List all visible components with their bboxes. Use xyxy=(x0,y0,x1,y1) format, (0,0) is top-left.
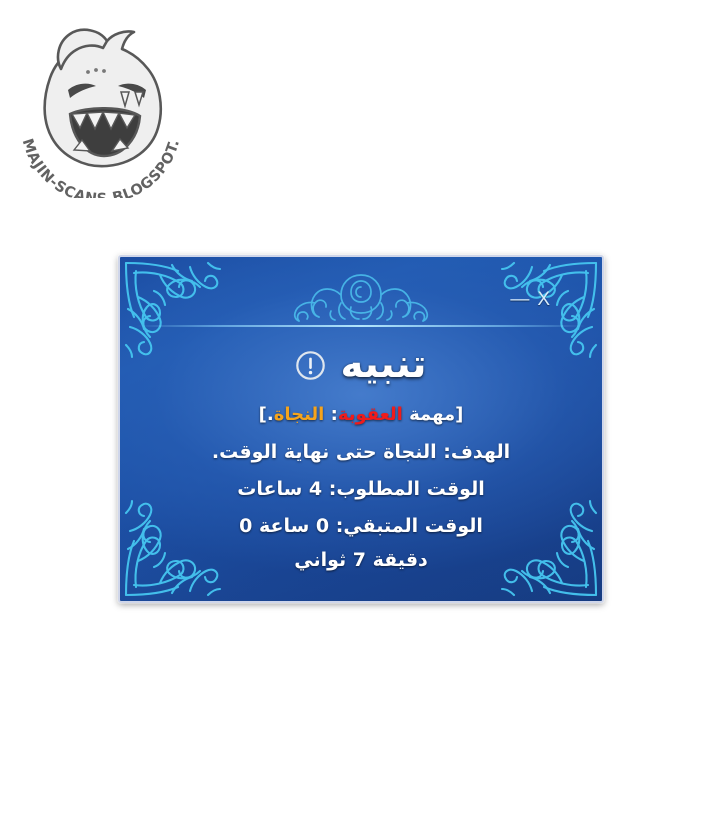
dialog-title-row: تنبيه xyxy=(120,345,602,386)
notification-dialog: — X تنبيه [مهمة العقوبة: النجاة.] الهدف:… xyxy=(118,255,604,603)
header-crown-ornament xyxy=(287,271,435,323)
mission-open-bracket: [ xyxy=(455,404,463,425)
page-title: تنبيه xyxy=(340,345,426,386)
mission-subject: العقوبة xyxy=(338,404,403,425)
close-button[interactable]: X xyxy=(537,290,550,309)
mission-close-bracket: ] xyxy=(259,404,267,425)
window-controls: — X xyxy=(510,290,550,309)
warning-exclamation-circle-icon xyxy=(295,350,326,381)
minimize-button[interactable]: — xyxy=(510,290,528,309)
title-divider xyxy=(136,325,586,327)
watermark-logo: MAJIN-SCANS.BLOGSPOT.COM xyxy=(8,28,194,198)
mission-separator: : xyxy=(324,404,337,425)
remaining-time-line-continued: دقيقة 7 ثواني xyxy=(120,549,602,572)
mission-label: مهمة xyxy=(403,404,455,425)
mission-value: النجاة xyxy=(274,404,325,425)
mission-period: . xyxy=(267,404,274,425)
remaining-time-line: الوقت المتبقي: 0 ساعة 0 xyxy=(120,515,602,538)
goal-line: الهدف: النجاة حتى نهاية الوقت. xyxy=(120,441,602,464)
mission-line: [مهمة العقوبة: النجاة.] xyxy=(120,404,602,426)
dialog-body: تنبيه [مهمة العقوبة: النجاة.] الهدف: الن… xyxy=(120,331,602,601)
required-time-line: الوقت المطلوب: 4 ساعات xyxy=(120,478,602,501)
